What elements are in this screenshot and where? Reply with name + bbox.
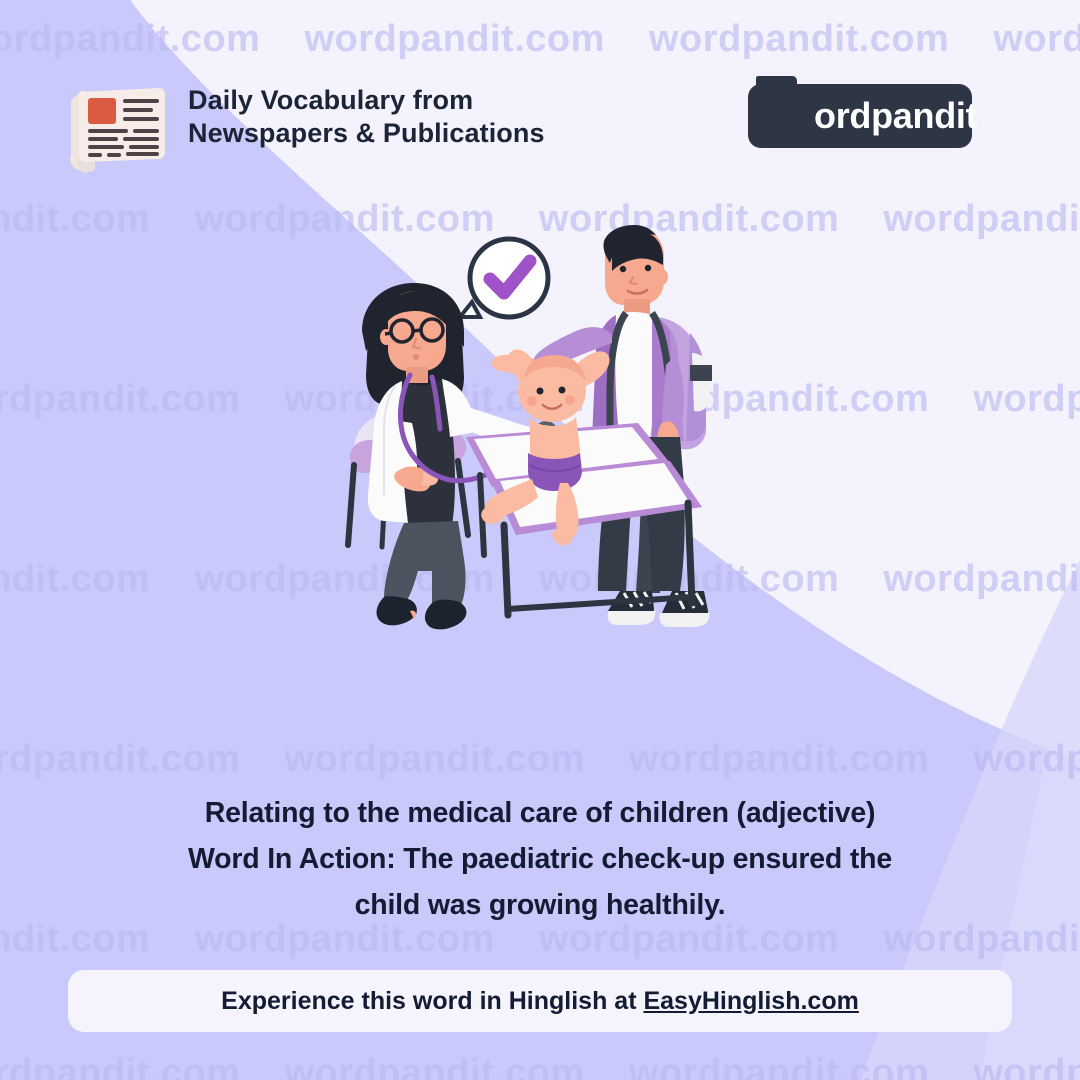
header-title-line1: Daily Vocabulary from <box>188 84 545 117</box>
word-in-action-line-cont: child was growing healthily. <box>40 882 1040 928</box>
word-in-action-line: Word In Action: The paediatric check-up … <box>40 836 1040 882</box>
bookmark-w-icon <box>748 76 802 148</box>
hinglish-banner-prefix: Experience this word in Hinglish at <box>221 987 643 1015</box>
wordpandit-logo[interactable]: ordpandit <box>748 84 972 148</box>
poster-canvas: wordpandit.comwordpandit.comwordpandit.c… <box>0 0 1080 1080</box>
definition-line: Relating to the medical care of children… <box>40 790 1040 836</box>
header-title-line2: Newspapers & Publications <box>188 117 545 150</box>
definition-block: Relating to the medical care of children… <box>40 790 1040 928</box>
header: Daily Vocabulary from Newspapers & Publi… <box>0 66 1080 176</box>
brand-name: ordpandit <box>814 84 977 148</box>
newspaper-icon <box>55 74 175 174</box>
easyhinglish-link[interactable]: EasyHinglish.com <box>643 987 858 1015</box>
hinglish-banner-text: Experience this word in Hinglish at Easy… <box>221 987 859 1016</box>
paediatric-checkup-illustration <box>340 225 760 635</box>
check-circle-speech-bubble-icon <box>460 239 548 317</box>
header-title: Daily Vocabulary from Newspapers & Publi… <box>188 84 545 150</box>
hinglish-banner[interactable]: Experience this word in Hinglish at Easy… <box>68 970 1012 1032</box>
word-card-wrapper: Paediatric <box>0 620 1080 740</box>
